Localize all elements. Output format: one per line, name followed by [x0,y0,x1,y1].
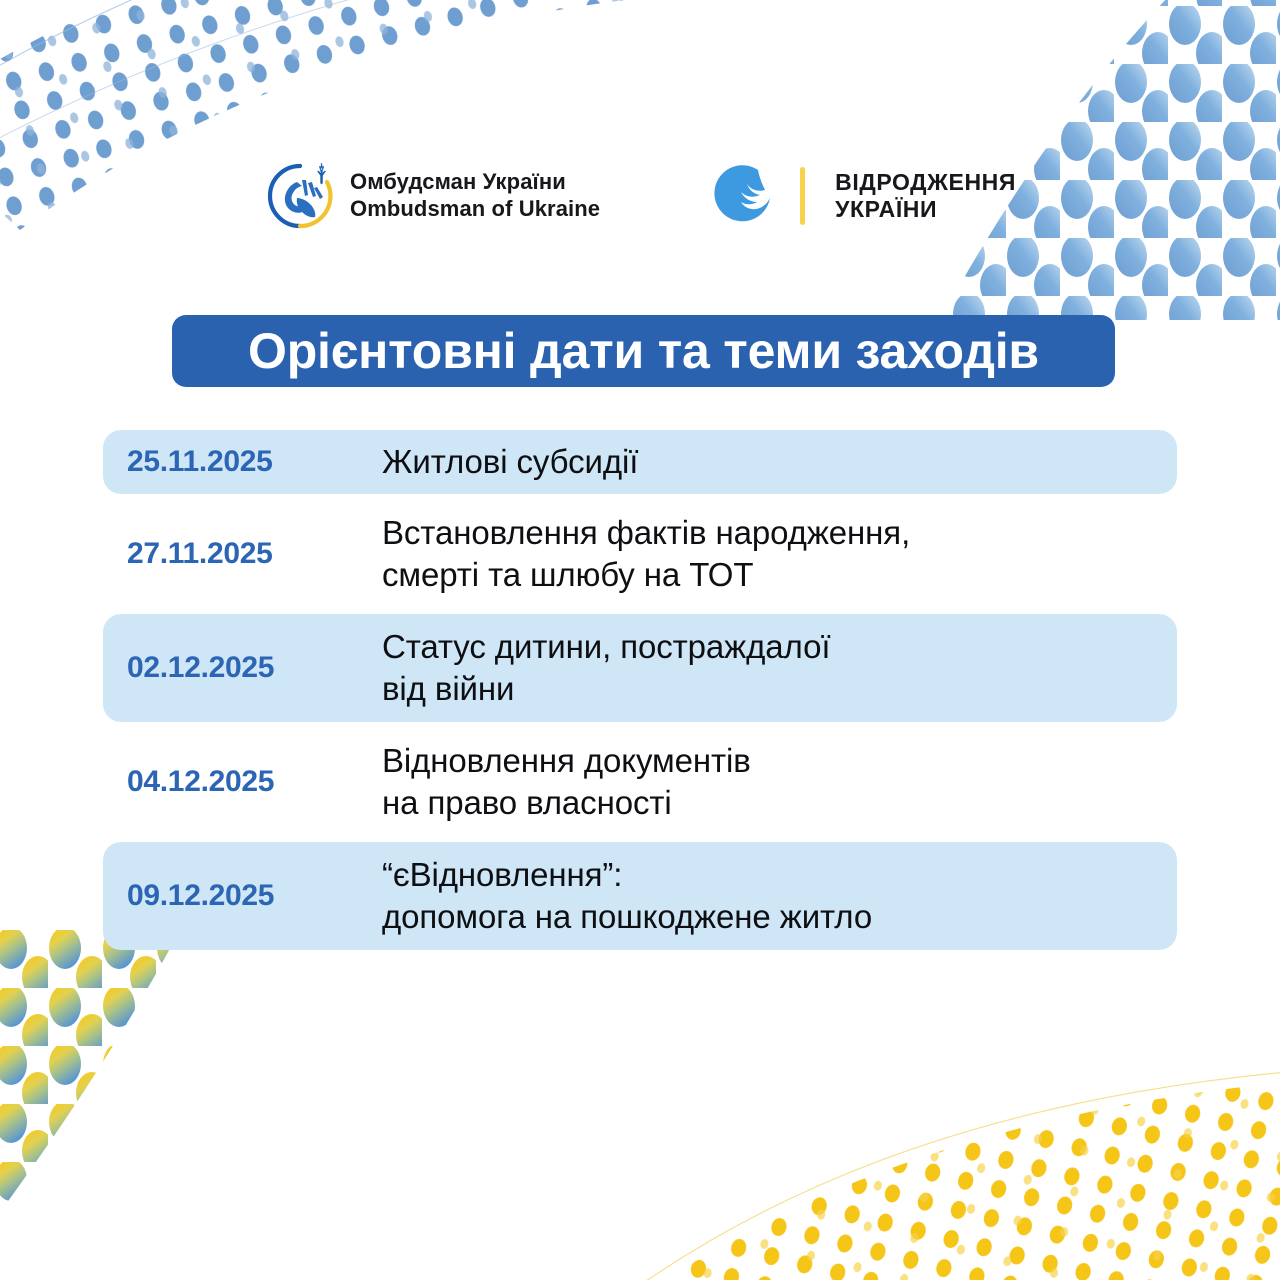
event-date: 09.12.2025 [127,879,382,913]
event-topic-line1: Житлові субсидії [382,443,638,480]
schedule-list: 25.11.2025 Житлові субсидії 27.11.2025 В… [103,430,1177,956]
page-title-banner: Орієнтовні дати та теми заходів [172,315,1115,387]
event-topic-line1: Статус дитини, постраждалої [382,628,830,665]
event-date: 04.12.2025 [127,765,382,799]
header-logos: Омбудсман України Ombudsman of Ukraine В… [0,160,1280,232]
event-topic-line1: Відновлення документів [382,742,751,779]
poster-canvas: Омбудсман України Ombudsman of Ukraine В… [0,0,1280,1280]
event-topic-line2: допомога на пошкоджене житло [382,896,1153,938]
event-topic: “єВідновлення”: допомога на пошкоджене ж… [382,854,1153,938]
event-topic: Встановлення фактів народження, смерті т… [382,512,1153,596]
table-row: 02.12.2025 Статус дитини, постраждалої в… [103,614,1177,722]
event-topic-line2: від війни [382,668,1153,710]
event-topic-line2: смерті та шлюбу на ТОТ [382,554,1153,596]
table-row: 27.11.2025 Встановлення фактів народженн… [103,500,1177,608]
event-date: 27.11.2025 [127,537,382,571]
decorative-yellow-dot-wave-bottom-right [610,1020,1280,1280]
vidrodzhennya-wordmark: ВІДРОДЖЕННЯ УКРАЇНИ [835,169,1016,223]
event-topic: Статус дитини, постраждалої від війни [382,626,1153,710]
event-topic-line2: на право власності [382,782,1153,824]
event-topic-line1: Встановлення фактів народження, [382,514,910,551]
ombudsman-name-en: Ombudsman of Ukraine [350,196,600,223]
ombudsman-dove-circle-icon [264,160,336,232]
vidrodzhennya-line1: ВІДРОДЖЕННЯ [835,169,1016,196]
event-date: 25.11.2025 [127,445,382,479]
event-topic-line1: “єВідновлення”: [382,856,622,893]
event-topic: Відновлення документів на право власност… [382,740,1153,824]
page-title: Орієнтовні дати та теми заходів [248,326,1039,376]
ombudsman-wordmark: Омбудсман України Ombudsman of Ukraine [350,169,600,223]
phoenix-bird-circle-icon [710,160,782,232]
logo-vidrodzhennya: ВІДРОДЖЕННЯ УКРАЇНИ [710,160,1016,232]
event-date: 02.12.2025 [127,651,382,685]
decorative-yellow-blue-ellipse-grid-bottom-left [0,930,410,1280]
logo-ombudsman: Омбудсман України Ombudsman of Ukraine [264,160,600,232]
table-row: 25.11.2025 Житлові субсидії [103,430,1177,494]
vidrodzhennya-line2: УКРАЇНИ [835,196,1016,223]
logo-divider [800,167,805,225]
event-topic: Житлові субсидії [382,441,1153,483]
ombudsman-name-uk: Омбудсман України [350,169,600,196]
table-row: 04.12.2025 Відновлення документів на пра… [103,728,1177,836]
table-row: 09.12.2025 “єВідновлення”: допомога на п… [103,842,1177,950]
